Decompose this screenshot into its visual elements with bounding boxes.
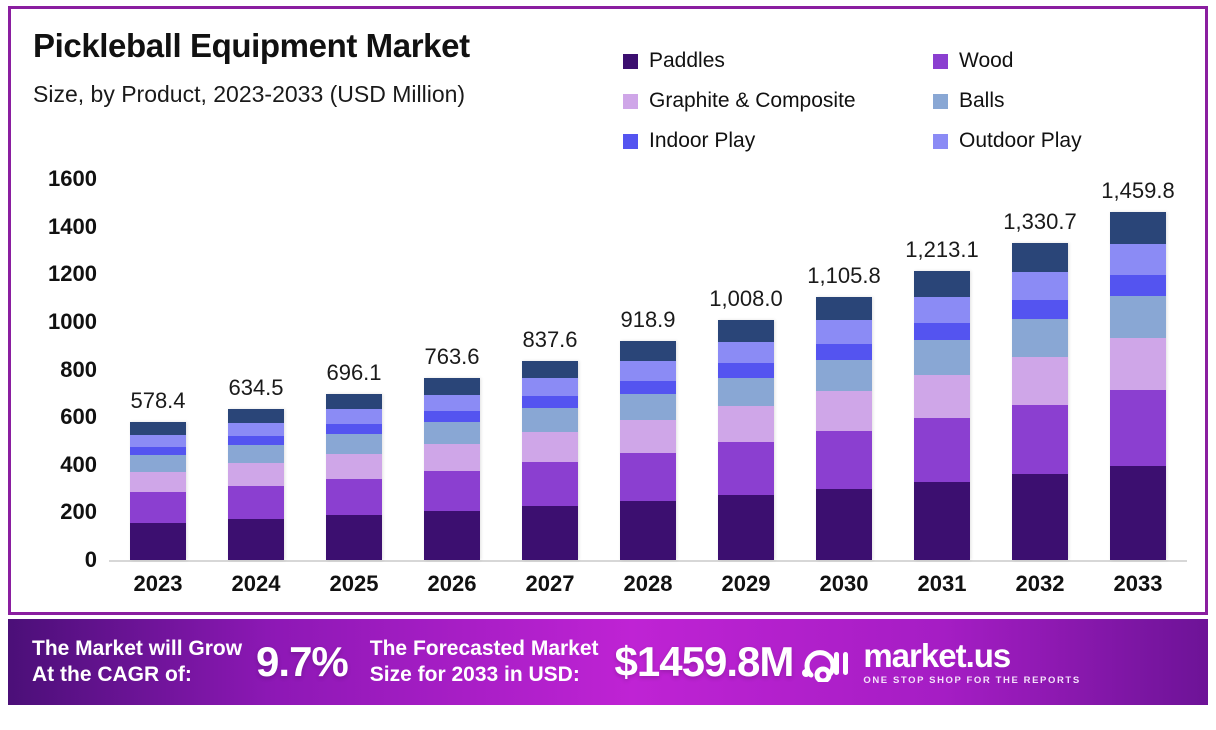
- bar-segment-paddles[interactable]: [228, 519, 284, 560]
- legend-label: Indoor Play: [649, 129, 755, 153]
- bar-total-label: 918.9: [620, 307, 675, 333]
- bar-segment-graphite-composite[interactable]: [424, 444, 480, 471]
- x-axis-tick-label-2033: 2033: [1089, 571, 1187, 611]
- bar-segment-balls[interactable]: [228, 445, 284, 463]
- bar-segment-graphite-composite[interactable]: [620, 420, 676, 453]
- bar-segment-other[interactable]: [718, 320, 774, 342]
- x-axis-tick-label-2025: 2025: [305, 571, 403, 611]
- y-axis-tick-label: 800: [60, 357, 97, 383]
- market-us-mark-icon: [801, 642, 853, 682]
- bar-total-label: 1,330.7: [1003, 209, 1076, 235]
- chart-infographic: Pickleball Equipment Market Size, by Pro…: [0, 0, 1216, 730]
- bar-segment-other[interactable]: [522, 361, 578, 379]
- bar-segment-paddles[interactable]: [424, 511, 480, 560]
- bar-total-label: 763.6: [424, 344, 479, 370]
- legend-label: Graphite & Composite: [649, 89, 856, 113]
- x-axis-tick-label-2023: 2023: [109, 571, 207, 611]
- y-axis-tick-label: 600: [60, 404, 97, 430]
- x-axis-tick-label-2026: 2026: [403, 571, 501, 611]
- bar-segment-graphite-composite[interactable]: [816, 391, 872, 431]
- bar-segment-other[interactable]: [914, 271, 970, 297]
- bar-total-label: 837.6: [522, 327, 577, 353]
- bar-group-2031[interactable]: 1,213.1: [893, 179, 991, 560]
- bar-segment-graphite-composite[interactable]: [326, 454, 382, 479]
- x-axis-tick-label-2031: 2031: [893, 571, 991, 611]
- bar-series-container: 578.4634.5696.1763.6837.6918.91,008.01,1…: [109, 179, 1187, 560]
- x-axis-line: [109, 560, 1187, 562]
- bar-segment-graphite-composite[interactable]: [522, 432, 578, 462]
- bar-group-2026[interactable]: 763.6: [403, 179, 501, 560]
- x-axis-labels: 2023202420252026202720282029203020312032…: [109, 571, 1187, 611]
- bar-segment-outdoor-play[interactable]: [718, 342, 774, 364]
- x-axis-tick-label-2029: 2029: [697, 571, 795, 611]
- bar-segment-graphite-composite[interactable]: [228, 463, 284, 486]
- bar-total-label: 1,459.8: [1101, 178, 1174, 204]
- bar-segment-other[interactable]: [326, 394, 382, 409]
- bar-segment-outdoor-play[interactable]: [326, 409, 382, 424]
- bar-segment-paddles[interactable]: [914, 482, 970, 560]
- bar-segment-indoor-play[interactable]: [228, 436, 284, 445]
- bar-segment-paddles[interactable]: [1012, 474, 1068, 560]
- y-axis-tick-label: 0: [85, 547, 97, 573]
- bar-segment-outdoor-play[interactable]: [914, 297, 970, 323]
- legend-label: Outdoor Play: [959, 129, 1082, 153]
- forecast-caption: The Forecasted Market Size for 2033 in U…: [370, 636, 599, 689]
- legend-swatch-icon: [933, 94, 948, 109]
- bar-segment-paddles[interactable]: [718, 495, 774, 560]
- bar-segment-graphite-composite[interactable]: [1012, 357, 1068, 405]
- page-title: Pickleball Equipment Market: [33, 27, 470, 65]
- y-axis-tick-label: 1000: [48, 309, 97, 335]
- bar-total-label: 578.4: [130, 388, 185, 414]
- bar-segment-graphite-composite[interactable]: [718, 406, 774, 442]
- bar-segment-balls[interactable]: [816, 360, 872, 392]
- bar-group-2032[interactable]: 1,330.7: [991, 179, 1089, 560]
- x-axis-tick-label-2030: 2030: [795, 571, 893, 611]
- y-axis-tick-label: 1600: [48, 166, 97, 192]
- legend-swatch-icon: [623, 54, 638, 69]
- bar-segment-other[interactable]: [1012, 243, 1068, 272]
- bar-segment-balls[interactable]: [1012, 319, 1068, 357]
- x-axis-tick-label-2027: 2027: [501, 571, 599, 611]
- chart-subtitle: Size, by Product, 2023-2033 (USD Million…: [33, 81, 465, 108]
- bar-segment-balls[interactable]: [130, 455, 186, 472]
- legend-item-paddles[interactable]: Paddles: [623, 49, 933, 73]
- bar-segment-balls[interactable]: [718, 378, 774, 407]
- bar-segment-balls[interactable]: [620, 394, 676, 420]
- bar-group-2023[interactable]: 578.4: [109, 179, 207, 560]
- bar-segment-indoor-play[interactable]: [522, 396, 578, 408]
- forecast-caption-line2: Size for 2033 in USD:: [370, 662, 599, 688]
- legend-item-indoor-play[interactable]: Indoor Play: [623, 129, 933, 153]
- bar-segment-indoor-play[interactable]: [424, 411, 480, 422]
- bar-segment-other[interactable]: [130, 422, 186, 434]
- bar-stack[interactable]: [326, 394, 382, 560]
- bar-segment-outdoor-play[interactable]: [130, 435, 186, 447]
- y-axis-tick-label: 200: [60, 499, 97, 525]
- bar-segment-wood[interactable]: [816, 431, 872, 489]
- bar-stack[interactable]: [620, 341, 676, 560]
- bar-stack[interactable]: [522, 361, 578, 560]
- brand-text-block: market.us ONE STOP SHOP FOR THE REPORTS: [863, 639, 1080, 686]
- bar-segment-wood[interactable]: [130, 492, 186, 522]
- x-axis-tick-label-2032: 2032: [991, 571, 1089, 611]
- bar-segment-outdoor-play[interactable]: [620, 361, 676, 381]
- bar-group-2025[interactable]: 696.1: [305, 179, 403, 560]
- bar-stack[interactable]: [130, 422, 186, 560]
- y-axis-tick-label: 1400: [48, 214, 97, 240]
- bar-segment-other[interactable]: [424, 378, 480, 394]
- bar-group-2029[interactable]: 1,008.0: [697, 179, 795, 560]
- bar-stack[interactable]: [1012, 243, 1068, 560]
- bar-segment-indoor-play[interactable]: [326, 424, 382, 434]
- bar-segment-wood[interactable]: [326, 479, 382, 515]
- summary-banner: The Market will Grow At the CAGR of: 9.7…: [8, 619, 1208, 705]
- x-axis-tick-label-2024: 2024: [207, 571, 305, 611]
- forecast-caption-line1: The Forecasted Market: [370, 636, 599, 662]
- brand-tagline: ONE STOP SHOP FOR THE REPORTS: [863, 675, 1080, 686]
- cagr-value: 9.7%: [256, 638, 348, 686]
- bar-segment-other[interactable]: [620, 341, 676, 361]
- bar-stack[interactable]: [1110, 212, 1166, 560]
- bar-segment-indoor-play[interactable]: [130, 447, 186, 455]
- bar-segment-indoor-play[interactable]: [718, 363, 774, 377]
- cagr-caption-line2: At the CAGR of:: [32, 662, 242, 688]
- cagr-caption-line1: The Market will Grow: [32, 636, 242, 662]
- bar-segment-other[interactable]: [816, 297, 872, 321]
- legend-item-wood[interactable]: Wood: [933, 49, 1203, 73]
- chart-card: Pickleball Equipment Market Size, by Pro…: [8, 6, 1208, 615]
- bar-segment-balls[interactable]: [522, 408, 578, 432]
- bar-segment-outdoor-play[interactable]: [816, 320, 872, 344]
- x-axis-tick-label-2028: 2028: [599, 571, 697, 611]
- bar-segment-other[interactable]: [1110, 212, 1166, 243]
- bar-total-label: 1,105.8: [807, 263, 880, 289]
- bar-segment-balls[interactable]: [326, 434, 382, 454]
- bar-total-label: 696.1: [326, 360, 381, 386]
- bar-segment-wood[interactable]: [424, 471, 480, 511]
- legend-label: Balls: [959, 89, 1005, 113]
- legend-item-outdoor-play[interactable]: Outdoor Play: [933, 129, 1203, 153]
- brand-name: market.us: [863, 639, 1080, 672]
- bar-segment-paddles[interactable]: [1110, 466, 1166, 560]
- bar-group-2027[interactable]: 837.6: [501, 179, 599, 560]
- bar-total-label: 634.5: [228, 375, 283, 401]
- bar-segment-indoor-play[interactable]: [816, 344, 872, 360]
- bar-segment-wood[interactable]: [914, 418, 970, 482]
- legend-label: Wood: [959, 49, 1013, 73]
- bar-stack[interactable]: [816, 297, 872, 560]
- bar-stack[interactable]: [424, 378, 480, 560]
- bar-segment-wood[interactable]: [228, 486, 284, 519]
- bar-segment-wood[interactable]: [1012, 405, 1068, 475]
- bar-segment-outdoor-play[interactable]: [1012, 272, 1068, 301]
- bar-segment-indoor-play[interactable]: [620, 381, 676, 394]
- bar-segment-wood[interactable]: [718, 442, 774, 495]
- legend-swatch-icon: [933, 134, 948, 149]
- bar-segment-outdoor-play[interactable]: [228, 423, 284, 437]
- bar-segment-paddles[interactable]: [620, 501, 676, 560]
- forecast-value: $1459.8M: [615, 638, 794, 686]
- cagr-caption: The Market will Grow At the CAGR of:: [32, 636, 242, 689]
- y-axis-tick-label: 1200: [48, 261, 97, 287]
- brand-logo: market.us ONE STOP SHOP FOR THE REPORTS: [801, 639, 1080, 686]
- bar-segment-indoor-play[interactable]: [1110, 275, 1166, 296]
- bar-segment-indoor-play[interactable]: [1012, 300, 1068, 319]
- bar-group-2028[interactable]: 918.9: [599, 179, 697, 560]
- legend-swatch-icon: [933, 54, 948, 69]
- bar-segment-paddles[interactable]: [130, 523, 186, 560]
- bar-segment-other[interactable]: [228, 409, 284, 423]
- bar-total-label: 1,008.0: [709, 286, 782, 312]
- bar-segment-balls[interactable]: [424, 422, 480, 444]
- bar-segment-paddles[interactable]: [326, 515, 382, 560]
- y-axis-labels: 02004006008001000120014001600: [19, 179, 103, 561]
- legend-swatch-icon: [623, 134, 638, 149]
- bar-segment-balls[interactable]: [914, 340, 970, 375]
- bar-segment-wood[interactable]: [522, 462, 578, 506]
- bar-group-2033[interactable]: 1,459.8: [1089, 179, 1187, 560]
- bar-segment-wood[interactable]: [620, 453, 676, 501]
- bar-segment-outdoor-play[interactable]: [424, 395, 480, 411]
- bar-group-2030[interactable]: 1,105.8: [795, 179, 893, 560]
- chart-legend: PaddlesWoodGraphite & CompositeBallsIndo…: [623, 41, 1203, 161]
- bar-segment-graphite-composite[interactable]: [914, 375, 970, 418]
- bar-segment-wood[interactable]: [1110, 390, 1166, 466]
- legend-item-graphite-composite[interactable]: Graphite & Composite: [623, 89, 933, 113]
- bar-segment-outdoor-play[interactable]: [1110, 244, 1166, 275]
- bar-segment-paddles[interactable]: [816, 489, 872, 560]
- bar-total-label: 1,213.1: [905, 237, 978, 263]
- legend-swatch-icon: [623, 94, 638, 109]
- bar-stack[interactable]: [718, 320, 774, 560]
- y-axis-tick-label: 400: [60, 452, 97, 478]
- bar-segment-outdoor-play[interactable]: [522, 378, 578, 396]
- legend-label: Paddles: [649, 49, 725, 73]
- bar-stack[interactable]: [914, 271, 970, 560]
- bar-segment-balls[interactable]: [1110, 296, 1166, 338]
- bar-segment-graphite-composite[interactable]: [1110, 338, 1166, 390]
- bar-segment-paddles[interactable]: [522, 506, 578, 560]
- bar-segment-indoor-play[interactable]: [914, 323, 970, 340]
- bar-group-2024[interactable]: 634.5: [207, 179, 305, 560]
- bar-segment-graphite-composite[interactable]: [130, 472, 186, 493]
- bar-stack[interactable]: [228, 409, 284, 560]
- legend-item-balls[interactable]: Balls: [933, 89, 1203, 113]
